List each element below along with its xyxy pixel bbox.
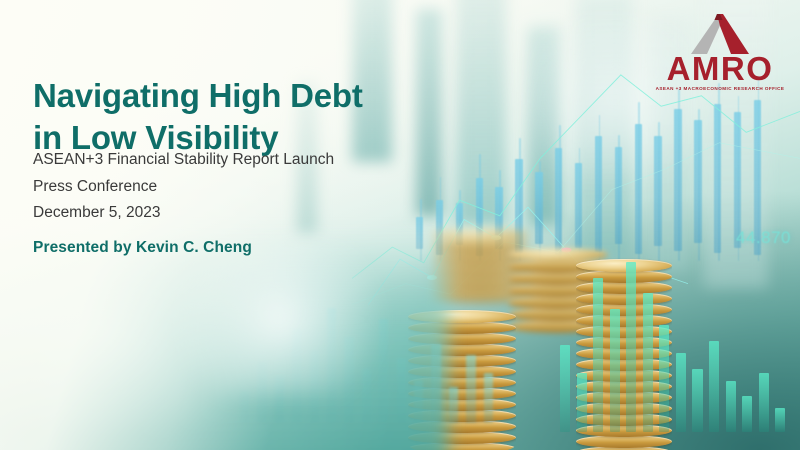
subtitle-date: December 5, 2023: [33, 200, 453, 227]
presenter-line: Presented by Kevin C. Cheng: [33, 239, 252, 257]
amro-a-chevron-icon: [691, 14, 749, 54]
slide-content: Navigating High Debt in Low Visibility A…: [0, 0, 800, 450]
subtitle-line-2: Press Conference: [33, 174, 453, 201]
amro-logo: AMRO ASEAN +3 MACROECONOMIC RESEARCH OFF…: [655, 14, 785, 92]
amro-wordmark: AMRO: [655, 52, 785, 85]
subtitle-line-1: ASEAN+3 Financial Stability Report Launc…: [33, 147, 453, 174]
title-line-1: Navigating High Debt: [33, 77, 363, 114]
slide-subtitle: ASEAN+3 Financial Stability Report Launc…: [33, 147, 453, 227]
presentation-slide: 44.870 Navigating High Debt in Low Visib…: [0, 0, 800, 450]
amro-tagline: ASEAN +3 MACROECONOMIC RESEARCH OFFICE: [655, 86, 785, 91]
